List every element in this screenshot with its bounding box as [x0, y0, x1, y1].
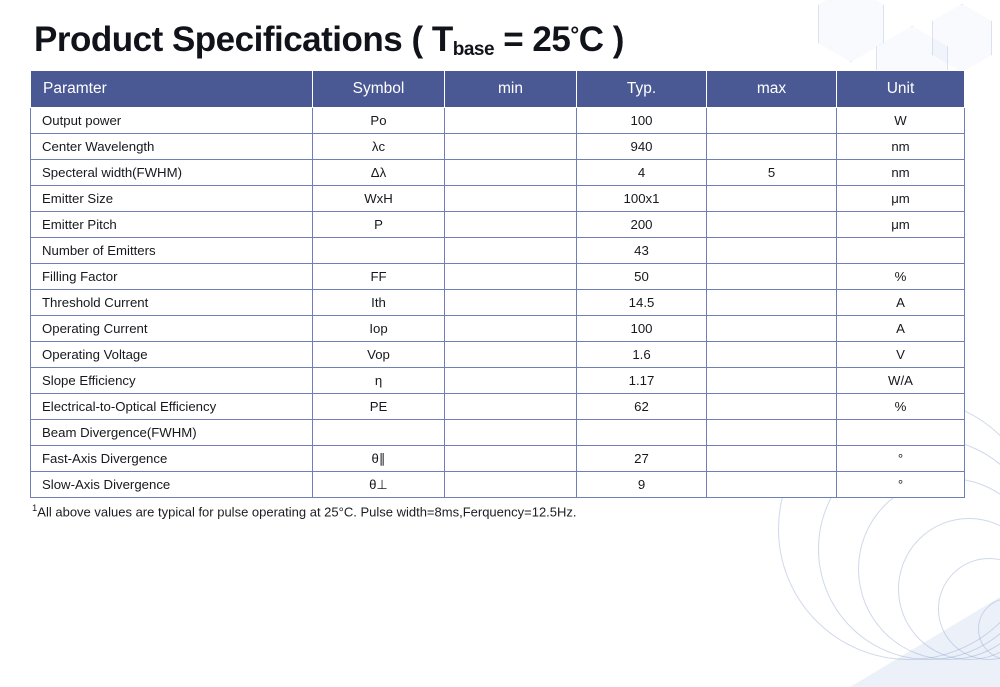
- cell-parameter: Threshold Current: [31, 290, 313, 316]
- cell-max: [707, 368, 837, 394]
- table-row: Operating CurrentIop100A: [31, 316, 965, 342]
- column-header-symbol: Symbol: [313, 71, 445, 108]
- cell-min: [445, 238, 577, 264]
- cell-parameter: Fast-Axis Divergence: [31, 446, 313, 472]
- column-header-min: min: [445, 71, 577, 108]
- cell-parameter: Electrical-to-Optical Efficiency: [31, 394, 313, 420]
- table-row: Slope Efficiencyη1.17W/A: [31, 368, 965, 394]
- cell-symbol: θ⊥: [313, 472, 445, 498]
- table-row: Electrical-to-Optical EfficiencyPE62%: [31, 394, 965, 420]
- cell-min: [445, 316, 577, 342]
- cell-symbol: FF: [313, 264, 445, 290]
- cell-typ: 1.17: [577, 368, 707, 394]
- cell-max: 5: [707, 160, 837, 186]
- page-title: Product Specifications ( Tbase = 25°C ): [34, 20, 964, 60]
- table-row: Emitter SizeWxH100x1μm: [31, 186, 965, 212]
- cell-symbol: Po: [313, 108, 445, 134]
- cell-min: [445, 212, 577, 238]
- cell-typ: 62: [577, 394, 707, 420]
- cell-parameter: Specteral width(FWHM): [31, 160, 313, 186]
- cell-unit: %: [837, 264, 965, 290]
- page-title-main: Product Specifications ( T: [34, 20, 453, 59]
- cell-unit: A: [837, 290, 965, 316]
- cell-min: [445, 472, 577, 498]
- cell-min: [445, 394, 577, 420]
- table-row: Fast-Axis Divergenceθ∥27°: [31, 446, 965, 472]
- cell-min: [445, 186, 577, 212]
- table-row: Operating VoltageVop1.6V: [31, 342, 965, 368]
- page-title-unit: C ): [579, 20, 624, 59]
- cell-typ: 100: [577, 316, 707, 342]
- cell-typ: 43: [577, 238, 707, 264]
- cell-symbol: Δλ: [313, 160, 445, 186]
- cell-max: [707, 186, 837, 212]
- table-row: Specteral width(FWHM)Δλ45nm: [31, 160, 965, 186]
- cell-parameter: Beam Divergence(FWHM): [31, 420, 313, 446]
- table-row: Output powerPo100W: [31, 108, 965, 134]
- cell-parameter: Number of Emitters: [31, 238, 313, 264]
- table-row: Emitter PitchP200μm: [31, 212, 965, 238]
- table-row: Slow-Axis Divergenceθ⊥9°: [31, 472, 965, 498]
- cell-max: [707, 472, 837, 498]
- cell-symbol: η: [313, 368, 445, 394]
- footnote-text: All above values are typical for pulse o…: [37, 504, 576, 519]
- cell-parameter: Slow-Axis Divergence: [31, 472, 313, 498]
- cell-min: [445, 264, 577, 290]
- table-row: Beam Divergence(FWHM): [31, 420, 965, 446]
- cell-max: [707, 446, 837, 472]
- cell-symbol: [313, 238, 445, 264]
- cell-min: [445, 420, 577, 446]
- cell-symbol: P: [313, 212, 445, 238]
- cell-parameter: Output power: [31, 108, 313, 134]
- cell-unit: A: [837, 316, 965, 342]
- column-header-paramter: Paramter: [31, 71, 313, 108]
- cell-min: [445, 134, 577, 160]
- cell-symbol: WxH: [313, 186, 445, 212]
- table-body: Output powerPo100WCenter Wavelengthλc940…: [31, 108, 965, 498]
- cell-max: [707, 108, 837, 134]
- cell-max: [707, 316, 837, 342]
- page-title-subscript: base: [453, 39, 494, 60]
- cell-unit: nm: [837, 134, 965, 160]
- degree-symbol: °: [570, 22, 578, 47]
- specifications-table: Paramter Symbol min Typ. max Unit Output…: [30, 70, 965, 498]
- cell-typ: 50: [577, 264, 707, 290]
- cell-unit: μm: [837, 186, 965, 212]
- cell-parameter: Slope Efficiency: [31, 368, 313, 394]
- cell-typ: 200: [577, 212, 707, 238]
- cell-typ: 100: [577, 108, 707, 134]
- cell-unit: °: [837, 472, 965, 498]
- cell-max: [707, 420, 837, 446]
- cell-unit: °: [837, 446, 965, 472]
- table-header: Paramter Symbol min Typ. max Unit: [31, 71, 965, 108]
- cell-typ: [577, 420, 707, 446]
- table-row: Center Wavelengthλc940nm: [31, 134, 965, 160]
- cell-max: [707, 134, 837, 160]
- cell-symbol: λc: [313, 134, 445, 160]
- cell-parameter: Emitter Pitch: [31, 212, 313, 238]
- cell-parameter: Center Wavelength: [31, 134, 313, 160]
- cell-parameter: Filling Factor: [31, 264, 313, 290]
- cell-typ: 14.5: [577, 290, 707, 316]
- table-row: Filling FactorFF50%: [31, 264, 965, 290]
- cell-unit: V: [837, 342, 965, 368]
- cell-unit: [837, 238, 965, 264]
- cell-min: [445, 290, 577, 316]
- cell-max: [707, 238, 837, 264]
- cell-typ: 9: [577, 472, 707, 498]
- cell-symbol: θ∥: [313, 446, 445, 472]
- footnote: 1All above values are typical for pulse …: [32, 503, 964, 519]
- cell-parameter: Emitter Size: [31, 186, 313, 212]
- cell-max: [707, 342, 837, 368]
- corner-triangle-decor: [850, 597, 1000, 687]
- cell-max: [707, 290, 837, 316]
- cell-min: [445, 368, 577, 394]
- cell-symbol: PE: [313, 394, 445, 420]
- cell-unit: W: [837, 108, 965, 134]
- cell-symbol: [313, 420, 445, 446]
- column-header-unit: Unit: [837, 71, 965, 108]
- cell-max: [707, 212, 837, 238]
- cell-symbol: Iop: [313, 316, 445, 342]
- table-row: Threshold CurrentIth14.5A: [31, 290, 965, 316]
- cell-min: [445, 108, 577, 134]
- cell-unit: nm: [837, 160, 965, 186]
- cell-min: [445, 342, 577, 368]
- cell-unit: μm: [837, 212, 965, 238]
- cell-symbol: Vop: [313, 342, 445, 368]
- cell-symbol: Ith: [313, 290, 445, 316]
- cell-min: [445, 446, 577, 472]
- slide-body: Product Specifications ( Tbase = 25°C ) …: [0, 0, 1000, 519]
- cell-unit: %: [837, 394, 965, 420]
- table-header-row: Paramter Symbol min Typ. max Unit: [31, 71, 965, 108]
- cell-max: [707, 264, 837, 290]
- cell-parameter: Operating Voltage: [31, 342, 313, 368]
- cell-unit: W/A: [837, 368, 965, 394]
- cell-unit: [837, 420, 965, 446]
- cell-parameter: Operating Current: [31, 316, 313, 342]
- cell-typ: 1.6: [577, 342, 707, 368]
- column-header-typ: Typ.: [577, 71, 707, 108]
- cell-typ: 27: [577, 446, 707, 472]
- cell-typ: 4: [577, 160, 707, 186]
- cell-min: [445, 160, 577, 186]
- cell-max: [707, 394, 837, 420]
- table-row: Number of Emitters43: [31, 238, 965, 264]
- column-header-max: max: [707, 71, 837, 108]
- page-title-eq: = 25: [494, 20, 570, 59]
- cell-typ: 940: [577, 134, 707, 160]
- cell-typ: 100x1: [577, 186, 707, 212]
